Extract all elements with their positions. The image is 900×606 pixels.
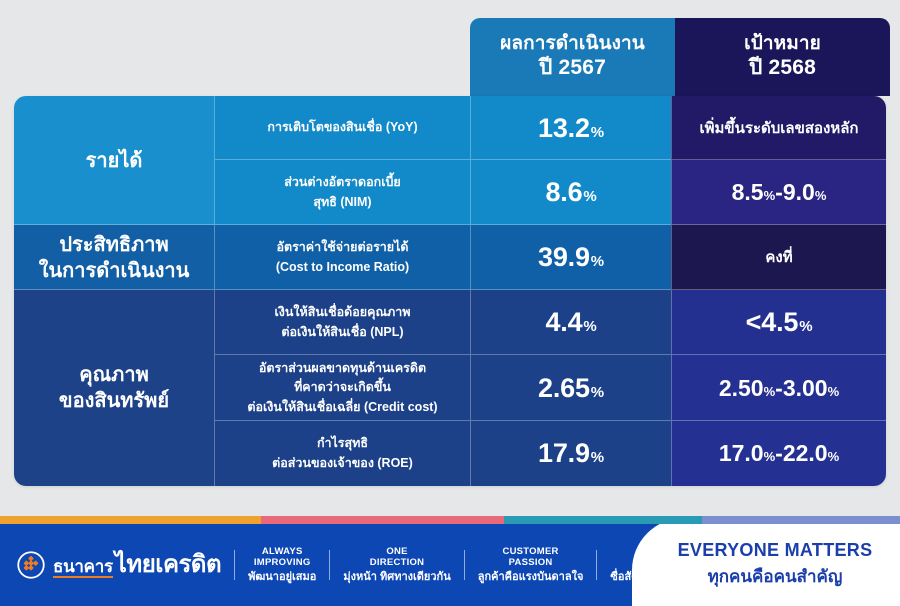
target-value-column: เพิ่มขึ้นระดับเลขสองหลัก 8.5%-9.0% คงที่…	[671, 96, 886, 486]
target-cell-0: เพิ่มขึ้นระดับเลขสองหลัก	[671, 96, 886, 160]
pillar-0-th: พัฒนาอยู่เสมอ	[248, 571, 316, 584]
metric-row-2: อัตราค่าใช้จ่ายต่อรายได้ (Cost to Income…	[214, 225, 470, 290]
pillar-one-direction: ONE DIRECTION มุ่งหน้า ทิศทางเดียวกัน	[343, 546, 450, 584]
slogan-panel: EVERYONE MATTERS ทุกคนคือคนสำคัญ	[632, 524, 900, 606]
brand-name-large: ไทยเครดิต	[115, 553, 221, 577]
stripe-segment-red	[261, 516, 504, 524]
target-value-2: คงที่	[759, 247, 798, 268]
bank-logo: ธนาคาร ไทยเครดิต	[16, 550, 221, 580]
header-actual-line1: ผลการดำเนินงาน	[500, 33, 645, 55]
metric-label-0: การเติบโตของสินเชื่อ (YoY)	[267, 118, 417, 137]
metric-label-1: ส่วนต่างอัตราดอกเบี้ย สุทธิ (NIM)	[284, 173, 401, 212]
category-efficiency: ประสิทธิภาพ ในการดำเนินงาน	[14, 225, 214, 290]
header-target-2568: เป้าหมาย ปี 2568	[675, 18, 890, 96]
header-target-line1: เป้าหมาย	[744, 33, 821, 55]
metric-label-3: เงินให้สินเชื่อด้อยคุณภาพ ต่อเงินให้สินเ…	[274, 303, 410, 342]
thai-credit-logo-icon	[16, 550, 46, 580]
footer-divider	[596, 550, 597, 580]
target-cell-1: 8.5%-9.0%	[671, 160, 886, 225]
actual-cell-4: 2.65%	[470, 355, 671, 421]
actual-cell-0: 13.2%	[470, 96, 671, 160]
actual-value-2: 39.9%	[538, 242, 604, 273]
category-revenue-label: รายได้	[86, 148, 143, 174]
category-revenue: รายได้	[14, 96, 214, 225]
actual-cell-3: 4.4%	[470, 290, 671, 355]
stripe-segment-teal	[504, 516, 702, 524]
actual-cell-5: 17.9%	[470, 421, 671, 486]
metric-label-4: อัตราส่วนผลขาดทุนด้านเครดิต ที่คาดว่าจะเ…	[247, 359, 437, 417]
header-actual-line2: ปี 2567	[539, 56, 606, 81]
actual-value-3: 4.4%	[545, 307, 596, 338]
target-value-5: 17.0%-22.0%	[719, 440, 839, 467]
actual-value-4: 2.65%	[538, 373, 604, 404]
target-value-3: <4.5%	[746, 307, 813, 338]
performance-table: รายได้ ประสิทธิภาพ ในการดำเนินงาน คุณภาพ…	[14, 96, 886, 486]
category-asset-quality-label: คุณภาพ ของสินทรัพย์	[59, 362, 169, 414]
actual-value-5: 17.9%	[538, 438, 604, 469]
pillar-0-en-line1: ALWAYS	[248, 546, 316, 557]
pillar-2-en-line2: PASSION	[478, 557, 584, 568]
target-value-4: 2.50%-3.00%	[719, 375, 839, 402]
brand-color-stripe	[0, 516, 900, 524]
pillar-2-en-line1: CUSTOMER	[478, 546, 584, 557]
actual-value-column: 13.2% 8.6% 39.9% 4.4% 2.65% 17.9%	[470, 96, 671, 486]
target-cell-5: 17.0%-22.0%	[671, 421, 886, 486]
actual-value-0: 13.2%	[538, 113, 604, 144]
category-column: รายได้ ประสิทธิภาพ ในการดำเนินงาน คุณภาพ…	[14, 96, 214, 486]
slogan-english: EVERYONE MATTERS	[678, 540, 873, 561]
metric-row-5: กำไรสุทธิ ต่อส่วนของเจ้าของ (ROE)	[214, 421, 470, 486]
actual-cell-2: 39.9%	[470, 225, 671, 290]
target-cell-2: คงที่	[671, 225, 886, 290]
stripe-segment-orange	[0, 516, 261, 524]
actual-cell-1: 8.6%	[470, 160, 671, 225]
infographic-canvas: ผลการดำเนินงาน ปี 2567 เป้าหมาย ปี 2568 …	[0, 0, 900, 606]
target-value-1: 8.5%-9.0%	[732, 179, 827, 206]
metric-row-3: เงินให้สินเชื่อด้อยคุณภาพ ต่อเงินให้สินเ…	[214, 290, 470, 355]
pillar-customer-passion: CUSTOMER PASSION ลูกค้าคือแรงบันดาลใจ	[478, 546, 584, 584]
footer-divider	[234, 550, 235, 580]
target-cell-4: 2.50%-3.00%	[671, 355, 886, 421]
table-header-row: ผลการดำเนินงาน ปี 2567 เป้าหมาย ปี 2568	[470, 18, 890, 96]
pillar-2-th: ลูกค้าคือแรงบันดาลใจ	[478, 571, 584, 584]
metric-column: การเติบโตของสินเชื่อ (YoY) ส่วนต่างอัตรา…	[214, 96, 470, 486]
category-efficiency-label: ประสิทธิภาพ ในการดำเนินงาน	[39, 232, 190, 284]
pillar-1-en-line1: ONE	[343, 546, 450, 557]
slogan-thai: ทุกคนคือคนสำคัญ	[708, 563, 843, 590]
pillar-1-en-line2: DIRECTION	[343, 557, 450, 568]
header-actual-2567: ผลการดำเนินงาน ปี 2567	[470, 18, 675, 96]
stripe-segment-periwinkle	[702, 516, 900, 524]
header-target-line2: ปี 2568	[749, 56, 816, 81]
metric-label-2: อัตราค่าใช้จ่ายต่อรายได้ (Cost to Income…	[276, 238, 409, 277]
metric-label-5: กำไรสุทธิ ต่อส่วนของเจ้าของ (ROE)	[272, 434, 413, 473]
footer-divider	[464, 550, 465, 580]
brand-name-small: ธนาคาร	[53, 558, 113, 578]
metric-row-1: ส่วนต่างอัตราดอกเบี้ย สุทธิ (NIM)	[214, 160, 470, 225]
pillar-always-improving: ALWAYS IMPROVING พัฒนาอยู่เสมอ	[248, 546, 316, 584]
actual-value-1: 8.6%	[545, 177, 596, 208]
category-asset-quality: คุณภาพ ของสินทรัพย์	[14, 290, 214, 486]
footer-divider	[329, 550, 330, 580]
pillar-1-th: มุ่งหน้า ทิศทางเดียวกัน	[343, 571, 450, 584]
target-cell-3: <4.5%	[671, 290, 886, 355]
target-value-0: เพิ่มขึ้นระดับเลขสองหลัก	[693, 118, 864, 139]
metric-row-0: การเติบโตของสินเชื่อ (YoY)	[214, 96, 470, 160]
metric-row-4: อัตราส่วนผลขาดทุนด้านเครดิต ที่คาดว่าจะเ…	[214, 355, 470, 421]
footer-bar: ธนาคาร ไทยเครดิต ALWAYS IMPROVING พัฒนาอ…	[0, 524, 900, 606]
pillar-0-en-line2: IMPROVING	[248, 557, 316, 568]
